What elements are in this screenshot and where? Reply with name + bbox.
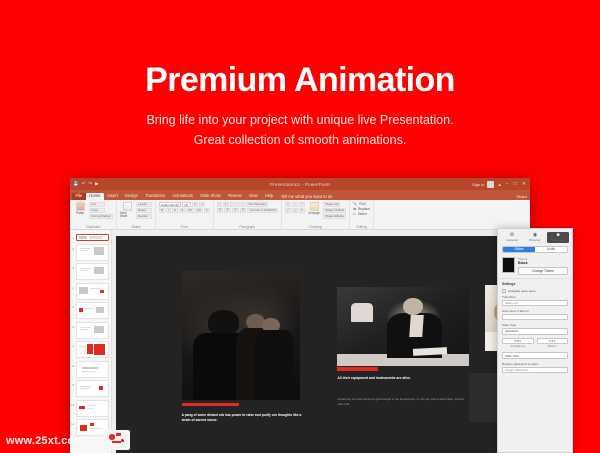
thumbnail-number: 8 bbox=[71, 361, 74, 368]
middle-accent-bar bbox=[337, 367, 378, 370]
character-spacing-button[interactable]: AV bbox=[186, 208, 194, 213]
paste-label: Paste bbox=[76, 212, 84, 215]
font-color-button[interactable]: A bbox=[204, 208, 210, 213]
photo-two-men-suits[interactable] bbox=[182, 271, 301, 399]
chevron-down-icon: ↕ bbox=[564, 354, 566, 358]
ribbon-group-clipboard: Paste Cut Copy Format Painter Clipboard bbox=[70, 201, 117, 229]
transitions-duration-input[interactable]: 0.8 s bbox=[502, 338, 534, 344]
tab-view[interactable]: View bbox=[245, 193, 261, 201]
align-right-button[interactable]: ☰ bbox=[232, 208, 239, 213]
copy-button[interactable]: Copy bbox=[89, 208, 105, 213]
photo-man-at-desk[interactable] bbox=[337, 287, 468, 367]
thumbnail-3[interactable] bbox=[76, 263, 110, 280]
account-name[interactable]: Sign in bbox=[472, 182, 484, 187]
tab-transitions[interactable]: Transitions bbox=[141, 193, 168, 201]
tab-animations[interactable]: Animations bbox=[169, 193, 197, 201]
list-item[interactable]: 3 bbox=[71, 263, 109, 280]
thumbnail-number: 11 bbox=[71, 419, 74, 426]
ribbon-tabs[interactable]: File Home Insert Design Transitions Anim… bbox=[70, 190, 530, 200]
transition-input[interactable]: Slide Left bbox=[502, 300, 568, 306]
segment-audio[interactable]: Audio bbox=[535, 247, 567, 252]
theme-label: Theme bbox=[518, 257, 568, 261]
text-direction-button[interactable]: Text Direction bbox=[246, 202, 268, 207]
format-painter-button[interactable]: Format Painter bbox=[89, 214, 113, 219]
transitions-duration-label: Transitions bbox=[502, 344, 534, 348]
list-item[interactable]: 1 bbox=[71, 233, 109, 241]
hero-section: Premium Animation Bring life into your p… bbox=[0, 0, 600, 150]
autoclose-field: Auto close if idle for bbox=[498, 308, 572, 322]
list-item[interactable]: 4 bbox=[71, 283, 109, 300]
thumbnail-6[interactable] bbox=[76, 322, 110, 339]
arrange-button[interactable]: Arrange bbox=[307, 202, 321, 215]
tab-general[interactable]: ⚙ General bbox=[501, 232, 523, 243]
group-label-drawing: Drawing bbox=[285, 225, 346, 230]
theme-swatch[interactable] bbox=[502, 257, 515, 273]
hero-subtitle-line-1: Bring life into your project with unique… bbox=[0, 111, 600, 130]
tab-document-label: Document bbox=[551, 239, 565, 242]
ribbon-group-paragraph: • 1. ← → Text Direction ☰ ☰ ☰ ☰ Convert … bbox=[214, 201, 282, 229]
slide-size-field: Slide Size... ↕ bbox=[498, 350, 572, 361]
slide-type-value: Standard bbox=[505, 329, 518, 333]
select-button[interactable]: ▷ Select bbox=[353, 212, 370, 216]
theme-row: Theme Black Change Theme bbox=[498, 256, 572, 279]
group-label-clipboard: Clipboard bbox=[73, 225, 113, 230]
window-title: Presentation1 - PowerPoint bbox=[70, 182, 530, 187]
slide-type-label: Slide Type bbox=[502, 323, 568, 327]
slide-canvas-pane[interactable]: A pang of some distant orb has power to … bbox=[112, 230, 530, 453]
find-label: Find bbox=[359, 202, 365, 206]
ribbon-group-font: Calibri (Body) 18 A a B I U S AV Aa A bbox=[156, 201, 214, 229]
close-button[interactable]: ✕ bbox=[521, 181, 527, 187]
tab-slide-show[interactable]: Slide Show bbox=[197, 193, 225, 201]
middle-heading-text[interactable]: All their equipment and instruments are … bbox=[337, 376, 460, 381]
group-label-paragraph: Paragraph bbox=[217, 225, 278, 230]
watermark-logo bbox=[104, 430, 130, 450]
reset-button[interactable]: Reset bbox=[136, 208, 152, 213]
list-item[interactable]: 2 bbox=[71, 244, 109, 261]
shape-line-icon[interactable]: ╱ bbox=[285, 208, 291, 213]
ribbon: Paste Cut Copy Format Painter Clipboard … bbox=[70, 200, 530, 230]
tab-browser[interactable]: ◉ Browser bbox=[524, 232, 546, 243]
tab-file[interactable]: File bbox=[72, 193, 86, 201]
autoclose-input[interactable] bbox=[502, 314, 568, 320]
chevron-down-icon: ↕ bbox=[564, 329, 566, 333]
decrease-font-size-icon[interactable]: a bbox=[199, 202, 205, 207]
numbering-button[interactable]: 1. bbox=[223, 202, 230, 207]
tab-review[interactable]: Review bbox=[224, 193, 245, 201]
justify-button[interactable]: ☰ bbox=[240, 208, 247, 213]
settings-section-title: Settings bbox=[498, 278, 572, 288]
slide-type-select[interactable]: Standard ↕ bbox=[502, 328, 568, 335]
button-duration-label: Button bbox=[537, 344, 569, 348]
work-area: 1 2 3 bbox=[70, 230, 530, 453]
left-caption-accent-bar bbox=[182, 403, 239, 407]
left-caption-text[interactable]: A pang of some distant orb has power to … bbox=[182, 413, 305, 423]
page-title: Premium Animation bbox=[0, 62, 600, 99]
avatar[interactable] bbox=[487, 181, 494, 188]
shape-more-icon[interactable]: ▾ bbox=[299, 208, 305, 213]
list-item[interactable]: 6 bbox=[71, 322, 109, 339]
tab-design[interactable]: Design bbox=[121, 193, 141, 201]
underline-button[interactable]: U bbox=[172, 208, 178, 213]
hero-subtitle-line-2: Great collection of smooth animations. bbox=[0, 131, 600, 150]
list-item[interactable]: 7 bbox=[71, 341, 109, 358]
shape-effects-button[interactable]: Shape Effects bbox=[323, 214, 346, 219]
tab-insert[interactable]: Insert bbox=[104, 193, 121, 201]
new-slide-button[interactable]: New Slide bbox=[120, 202, 134, 218]
tab-general-label: General bbox=[506, 239, 517, 242]
slide-size-value: Slide Size... bbox=[505, 354, 521, 358]
transition-label: Transition: bbox=[502, 295, 568, 299]
italic-button[interactable]: I bbox=[166, 208, 171, 213]
shape-triangle-icon[interactable]: △ bbox=[292, 208, 298, 213]
shape-circle-icon[interactable]: ○ bbox=[292, 202, 298, 207]
ribbon-display-options-icon[interactable]: ▲ bbox=[497, 182, 501, 187]
strikethrough-button[interactable]: S bbox=[179, 208, 185, 213]
arrange-label: Arrange bbox=[308, 212, 320, 215]
autoclose-label: Auto close if idle for bbox=[502, 309, 568, 313]
watermark-text: www.25xt.com bbox=[6, 435, 84, 447]
thumbnail-number: 3 bbox=[71, 263, 74, 270]
thumbnail-number: 2 bbox=[71, 244, 74, 251]
font-name-combobox[interactable]: Calibri (Body) bbox=[159, 202, 181, 207]
increase-font-size-icon[interactable]: A bbox=[192, 202, 198, 207]
cut-button[interactable]: Cut bbox=[89, 202, 105, 207]
bold-button[interactable]: B bbox=[159, 208, 165, 213]
increase-indent-button[interactable]: → bbox=[238, 202, 245, 207]
thumbnail-5[interactable] bbox=[76, 302, 110, 319]
paste-icon bbox=[76, 202, 85, 211]
password-field: Require password to open: Assign Passwor… bbox=[498, 361, 572, 375]
autoplay-checkbox[interactable] bbox=[502, 289, 506, 293]
tab-document[interactable]: ■ Document bbox=[547, 232, 569, 243]
middle-body-text[interactable]: Apparently we had reached a great height… bbox=[337, 397, 464, 406]
ribbon-group-editing: 🔍 Find ⇆ Replace ▷ Select Editing bbox=[350, 201, 374, 229]
thumbnail-7[interactable] bbox=[76, 341, 110, 358]
shape-outline-button[interactable]: Shape Outline bbox=[323, 208, 346, 213]
thumbnail-1[interactable] bbox=[76, 234, 110, 241]
paste-button[interactable]: Paste bbox=[73, 202, 87, 215]
minimize-button[interactable]: − bbox=[505, 181, 510, 187]
find-button[interactable]: 🔍 Find bbox=[353, 202, 370, 206]
new-slide-label: New Slide bbox=[120, 212, 134, 219]
thumbnail-number: 9 bbox=[71, 380, 74, 387]
bullets-button[interactable]: • bbox=[217, 202, 222, 207]
change-theme-button[interactable]: Change Theme bbox=[518, 267, 568, 275]
share-button[interactable]: Share bbox=[516, 194, 527, 199]
tab-help[interactable]: Help bbox=[261, 193, 277, 201]
thumbnail-8[interactable] bbox=[76, 361, 110, 378]
replace-label: Replace bbox=[358, 207, 370, 211]
list-item[interactable]: 9 bbox=[71, 380, 109, 397]
group-label-font: Font bbox=[159, 225, 210, 230]
change-case-button[interactable]: Aa bbox=[195, 208, 203, 213]
maximize-button[interactable]: □ bbox=[513, 181, 518, 187]
properties-tabs[interactable]: ⚙ General ◉ Browser ■ Document bbox=[498, 229, 572, 244]
shape-fill-button[interactable]: Shape Fill bbox=[323, 202, 340, 207]
thumbnail-number: 10 bbox=[71, 400, 74, 407]
thumbnail-2[interactable] bbox=[76, 244, 110, 261]
list-item[interactable]: 10 bbox=[71, 400, 109, 417]
section-button[interactable]: Section bbox=[136, 214, 152, 219]
ribbon-group-drawing: □ ○ ↗ ╱ △ ▾ Arrange Shape Fill bbox=[282, 201, 350, 229]
slide-size-select[interactable]: Slide Size... ↕ bbox=[502, 352, 568, 359]
align-center-button[interactable]: ☰ bbox=[224, 208, 231, 213]
shape-arrow-icon[interactable]: ↗ bbox=[299, 202, 306, 207]
password-input[interactable]: Assign Password... bbox=[502, 367, 568, 373]
replace-button[interactable]: ⇆ Replace bbox=[353, 207, 370, 211]
duration-row: 0.8 s Transitions 1.2 s Button bbox=[498, 337, 572, 351]
shape-rect-icon[interactable]: □ bbox=[285, 202, 291, 207]
autoplay-label: Autoplay upon open bbox=[508, 289, 536, 293]
thumbnail-4[interactable] bbox=[76, 283, 110, 300]
thumbnail-number: 4 bbox=[71, 283, 74, 290]
thumbnail-9[interactable] bbox=[76, 380, 110, 397]
thumbnail-number: 5 bbox=[71, 302, 74, 309]
align-left-button[interactable]: ☰ bbox=[217, 208, 224, 213]
slides-audio-segmented-control[interactable]: Slides Audio bbox=[502, 246, 568, 253]
tell-me-search[interactable]: Tell me what you want to do bbox=[277, 192, 337, 200]
list-item[interactable]: 5 bbox=[71, 302, 109, 319]
theme-value: Black bbox=[518, 261, 568, 265]
slide-type-field: Slide Type Standard ↕ bbox=[498, 322, 572, 337]
shapes-icon bbox=[310, 202, 319, 211]
thumbnail-number: 1 bbox=[71, 233, 74, 240]
list-item[interactable]: 8 bbox=[71, 361, 109, 378]
password-label: Require password to open: bbox=[502, 362, 568, 366]
select-label: Select bbox=[358, 212, 367, 216]
font-size-combobox[interactable]: 18 bbox=[182, 202, 191, 207]
group-label-slides: Slides bbox=[120, 225, 152, 230]
ribbon-group-slides: New Slide Layout Reset Section Slides bbox=[117, 201, 156, 229]
window-titlebar: 💾 ↶ ↷ ▶ Presentation1 - PowerPoint Sign … bbox=[70, 178, 530, 190]
transition-field: Transition: Slide Left bbox=[498, 294, 572, 308]
segment-slides[interactable]: Slides bbox=[503, 247, 535, 252]
button-duration-input[interactable]: 1.2 s bbox=[537, 338, 569, 344]
thumbnail-number: 6 bbox=[71, 322, 74, 329]
tab-home[interactable]: Home bbox=[86, 193, 104, 201]
slide-thumbnail-pane[interactable]: 1 2 3 bbox=[70, 230, 112, 453]
powerpoint-window: 💾 ↶ ↷ ▶ Presentation1 - PowerPoint Sign … bbox=[70, 178, 530, 453]
thumbnail-10[interactable] bbox=[76, 400, 110, 417]
layout-button[interactable]: Layout bbox=[136, 202, 152, 207]
slide-canvas[interactable]: A pang of some distant orb has power to … bbox=[116, 236, 526, 453]
new-slide-icon bbox=[123, 202, 132, 211]
decrease-indent-button[interactable]: ← bbox=[230, 202, 237, 207]
group-label-editing: Editing bbox=[353, 225, 370, 230]
properties-panel: ⚙ General ◉ Browser ■ Document Slides Au… bbox=[497, 228, 573, 453]
tab-browser-label: Browser bbox=[529, 239, 540, 242]
convert-smartart-button[interactable]: Convert to SmartArt bbox=[247, 208, 278, 213]
thumbnail-number: 7 bbox=[71, 341, 74, 348]
